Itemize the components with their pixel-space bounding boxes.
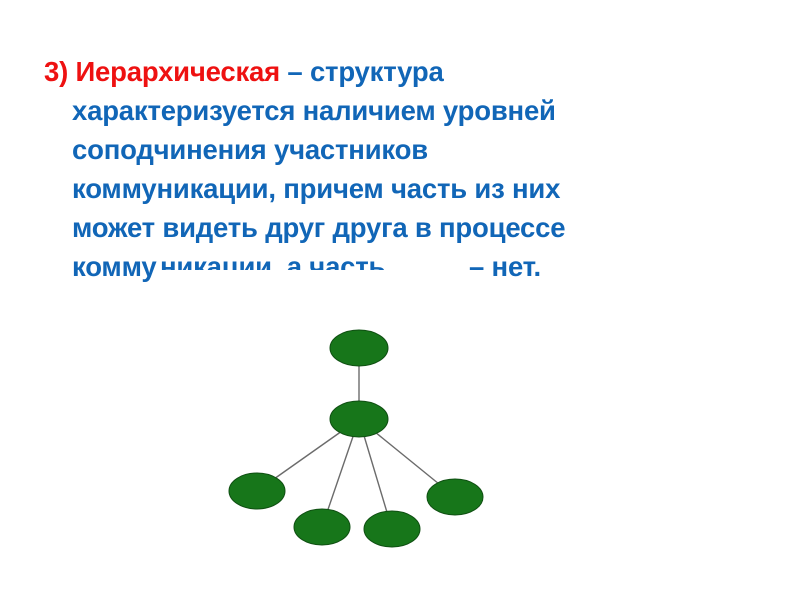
diagram-node-root [330, 330, 388, 366]
text-line-6-segment-a: комму [72, 247, 156, 286]
diagram-node-leaf1 [229, 473, 285, 509]
text-line-6-segment-b-clipped: никации, а часть [160, 247, 393, 270]
diagram-node-leaf3 [364, 511, 420, 547]
text-line-6-segment-c: – нет. [469, 247, 541, 286]
diagram-edge-mid-leaf4 [359, 419, 455, 497]
text-line-3: соподчинения участников [44, 130, 744, 169]
diagram-edge-layer [257, 348, 455, 529]
text-line-1-red: 3) Иерархическая [44, 56, 287, 87]
body-text-block: 3) Иерархическая – структура характеризу… [44, 52, 744, 286]
text-line-4: коммуникации, причем часть из них [44, 169, 744, 208]
diagram-node-layer [229, 330, 483, 547]
text-line-6: комму никации, а часть – нет. [44, 247, 744, 286]
slide-canvas: 3) Иерархическая – структура характеризу… [0, 0, 800, 600]
text-line-1: 3) Иерархическая – структура [44, 52, 744, 91]
diagram-node-leaf4 [427, 479, 483, 515]
diagram-edge-mid-leaf1 [257, 419, 359, 491]
text-line-2: характеризуется наличием уровней [44, 91, 744, 130]
diagram-edge-mid-leaf2 [322, 419, 359, 527]
text-line-1-blue: – структура [287, 56, 443, 87]
diagram-edge-mid-leaf3 [359, 419, 392, 529]
diagram-node-leaf2 [294, 509, 350, 545]
text-line-5: может видеть друг друга в процессе [44, 208, 744, 247]
diagram-node-mid [330, 401, 388, 437]
